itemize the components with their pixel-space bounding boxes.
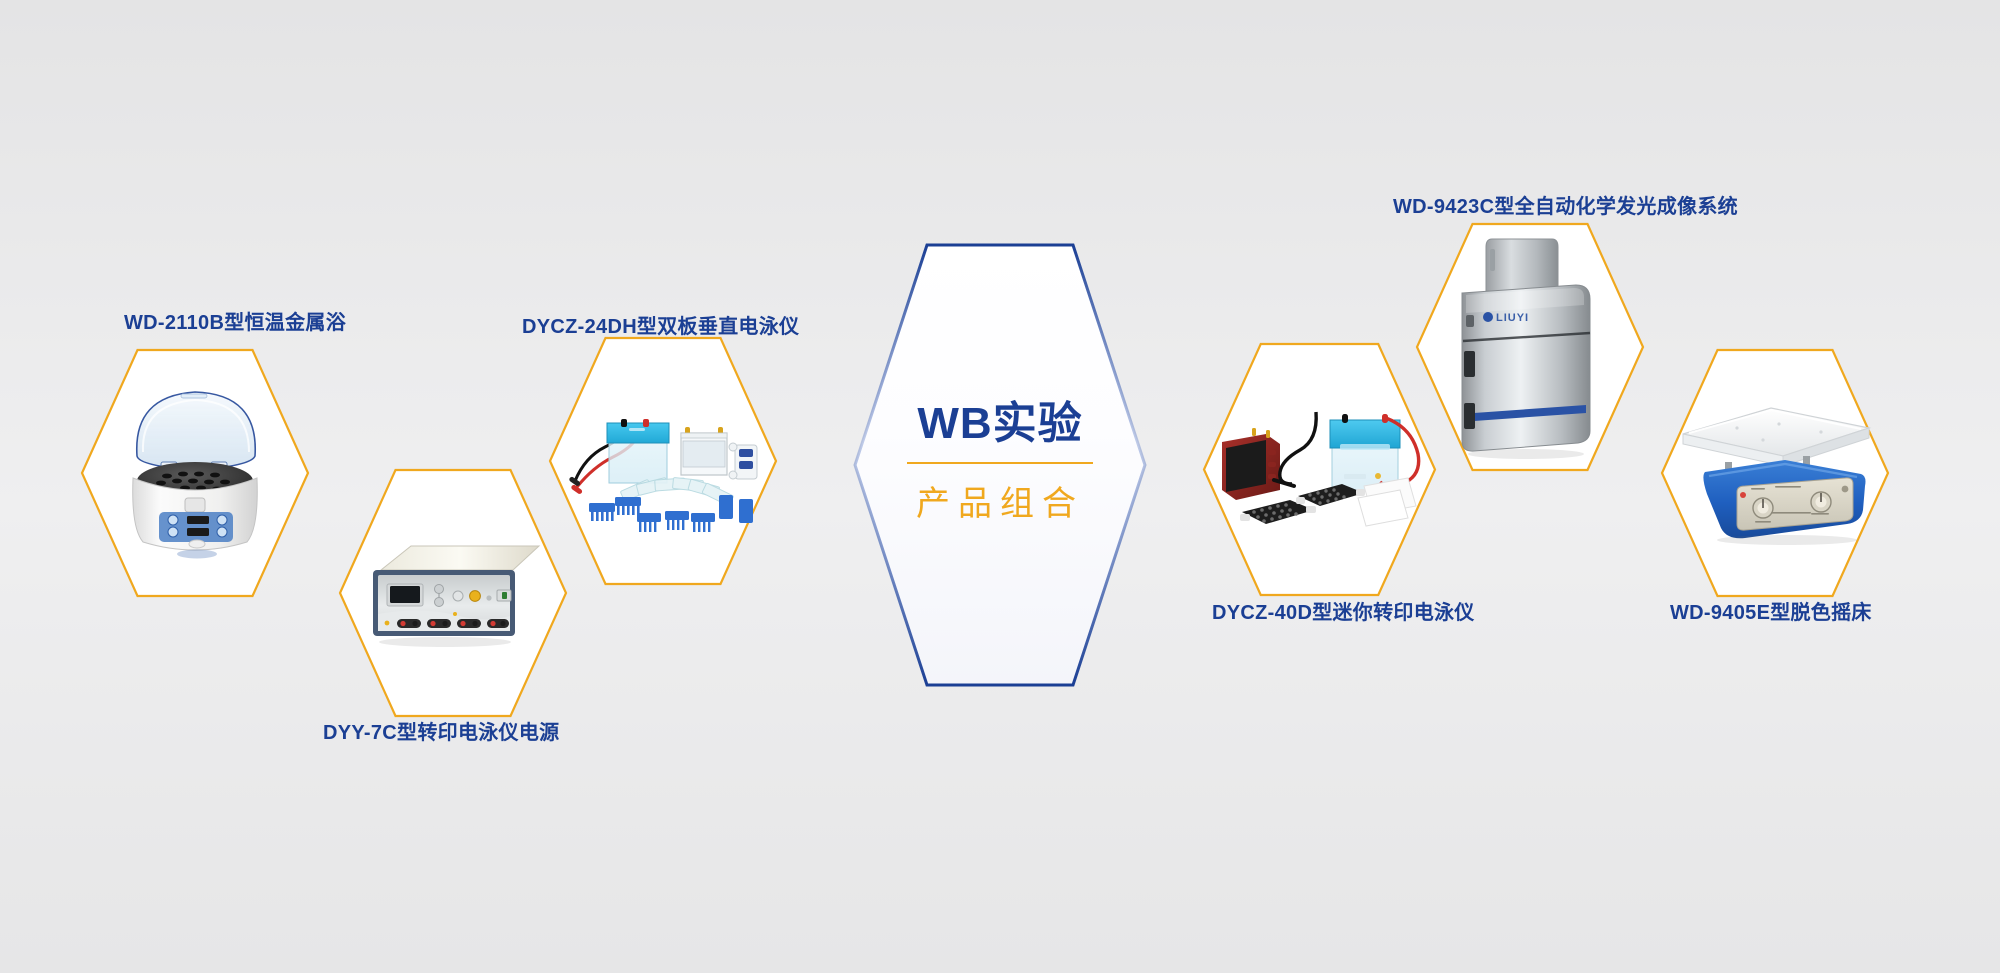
product-node-wd-2110b[interactable] bbox=[80, 348, 310, 598]
product-node-wd-9423c[interactable]: LIUYI bbox=[1415, 222, 1645, 472]
product-label-wd-9405e: WD-9405E型脱色摇床 bbox=[1670, 596, 1872, 625]
product-node-dyy-7c[interactable] bbox=[338, 468, 568, 718]
product-label-dycz-40d: DYCZ-40D型迷你转印电泳仪 bbox=[1212, 596, 1475, 625]
center-title: WB实验 bbox=[917, 400, 1082, 448]
product-node-dycz-24dh[interactable] bbox=[548, 336, 778, 586]
product-combination-banner: WB实验 产品组合 bbox=[0, 0, 2000, 973]
vertical-electrophoresis-kit-photo bbox=[548, 336, 778, 586]
product-node-wd-9405e[interactable] bbox=[1660, 348, 1890, 598]
product-label-dyy-7c: DYY-7C型转印电泳仪电源 bbox=[323, 716, 559, 745]
product-label-wd-9423c: WD-9423C型全自动化学发光成像系统 bbox=[1393, 190, 1738, 219]
chemiluminescence-imaging-system-photo: LIUYI bbox=[1415, 222, 1645, 472]
decolorizing-shaker-photo bbox=[1660, 348, 1890, 598]
product-label-wd-2110b: WD-2110B型恒温金属浴 bbox=[124, 306, 346, 335]
center-subtitle: 产品组合 bbox=[916, 476, 1084, 525]
electrophoresis-power-supply-photo bbox=[338, 468, 568, 718]
product-label-dycz-24dh: DYCZ-24DH型双板垂直电泳仪 bbox=[522, 310, 799, 339]
svg-text:LIUYI: LIUYI bbox=[1496, 312, 1529, 324]
dry-bath-incubator-photo bbox=[80, 348, 310, 598]
product-node-dycz-40d[interactable] bbox=[1202, 342, 1437, 597]
mini-transfer-cell-photo bbox=[1202, 342, 1437, 597]
center-divider bbox=[907, 462, 1093, 464]
